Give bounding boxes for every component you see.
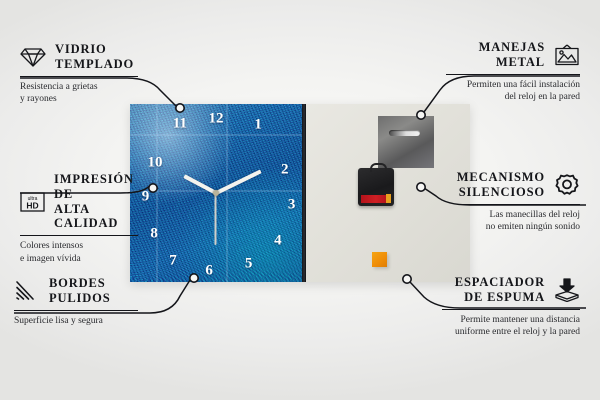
infographic-canvas: 12 1 2 3 4 5 6 7 8 9 10 11: [0, 0, 600, 400]
feature-hd-print-desc: Colores intensos e imagen vívida: [20, 240, 138, 265]
clock-number-5: 5: [245, 257, 253, 272]
clock-number-1: 1: [254, 118, 262, 133]
feature-polished-edges-rule: [14, 310, 138, 311]
clock-mechanism: [358, 168, 394, 206]
feature-hd-print[interactable]: ultra HD IMPRESIÓN DE ALTA CALIDAD Color…: [20, 172, 138, 265]
clock-number-8: 8: [150, 226, 158, 241]
clock-front-panel: 12 1 2 3 4 5 6 7 8 9 10 11: [130, 104, 302, 282]
feature-metal-handles-title: MANEJAS METAL: [479, 40, 545, 70]
clock-number-12: 12: [209, 112, 224, 127]
feature-tempered-glass-title: VIDRIO TEMPLADO: [55, 42, 134, 72]
hanger-slot: [389, 130, 420, 136]
clock-number-7: 7: [169, 253, 177, 268]
product-photo: 12 1 2 3 4 5 6 7 8 9 10 11: [130, 104, 470, 282]
feature-tempered-glass-desc: Resistencia a grietas y rayones: [20, 81, 138, 106]
polished-edges-icon: [14, 280, 40, 302]
feature-foam-spacer-title: ESPACIADOR DE ESPUMA: [455, 275, 545, 305]
feature-silent-mechanism-desc: Las manecillas del reloj no emiten ningú…: [458, 209, 580, 234]
diamond-icon: [20, 46, 46, 68]
feature-foam-spacer-rule: [442, 309, 580, 310]
feature-hd-print-head: ultra HD IMPRESIÓN DE ALTA CALIDAD: [20, 172, 138, 231]
clock-number-6: 6: [205, 264, 213, 279]
feature-silent-mechanism-head: MECANISMO SILENCIOSO: [458, 170, 580, 200]
framed-picture-icon: [554, 44, 580, 66]
feature-metal-handles-desc: Permiten una fácil instalación del reloj…: [446, 79, 580, 104]
feature-tempered-glass[interactable]: VIDRIO TEMPLADO Resistencia a grietas y …: [20, 42, 138, 106]
feature-hd-print-rule: [20, 235, 138, 236]
metal-hanger-plate: [378, 116, 434, 168]
clock-number-9: 9: [142, 189, 150, 204]
feature-foam-spacer-head: ESPACIADOR DE ESPUMA: [442, 275, 580, 305]
clock-number-10: 10: [147, 155, 162, 170]
feature-foam-spacer[interactable]: ESPACIADOR DE ESPUMA Permite mantener un…: [442, 275, 580, 339]
feature-silent-mechanism-rule: [458, 204, 580, 205]
svg-text:HD: HD: [26, 200, 38, 210]
feature-silent-mechanism[interactable]: MECANISMO SILENCIOSO Las manecillas del …: [458, 170, 580, 234]
clock-center-cap: [213, 190, 219, 196]
gear-icon: [554, 173, 580, 197]
clock-back-panel: [306, 104, 470, 282]
feature-metal-handles-rule: [446, 74, 580, 75]
clock-number-4: 4: [274, 234, 282, 249]
feature-tempered-glass-rule: [20, 76, 138, 77]
foam-spacer-pad: [372, 252, 387, 267]
feature-polished-edges-title: BORDES PULIDOS: [49, 276, 111, 306]
mechanism-hook: [370, 163, 387, 172]
mechanism-marker: [386, 194, 391, 203]
clock-number-11: 11: [173, 117, 187, 132]
feature-polished-edges-desc: Superficie lisa y segura: [14, 315, 138, 328]
feature-silent-mechanism-title: MECANISMO SILENCIOSO: [457, 170, 545, 200]
feature-hd-print-title: IMPRESIÓN DE ALTA CALIDAD: [54, 172, 138, 231]
feature-polished-edges[interactable]: BORDES PULIDOS Superficie lisa y segura: [14, 276, 138, 327]
arrow-onto-foam-icon: [554, 278, 580, 302]
feature-metal-handles[interactable]: MANEJAS METAL Permiten una fácil instala…: [446, 40, 580, 104]
feature-foam-spacer-desc: Permite mantener una distancia uniforme …: [442, 314, 580, 339]
feature-tempered-glass-head: VIDRIO TEMPLADO: [20, 42, 138, 72]
feature-metal-handles-head: MANEJAS METAL: [446, 40, 580, 70]
clock-number-2: 2: [281, 162, 289, 177]
ultra-hd-icon: ultra HD: [20, 191, 45, 213]
clock-number-3: 3: [288, 198, 296, 213]
feature-polished-edges-head: BORDES PULIDOS: [14, 276, 138, 306]
